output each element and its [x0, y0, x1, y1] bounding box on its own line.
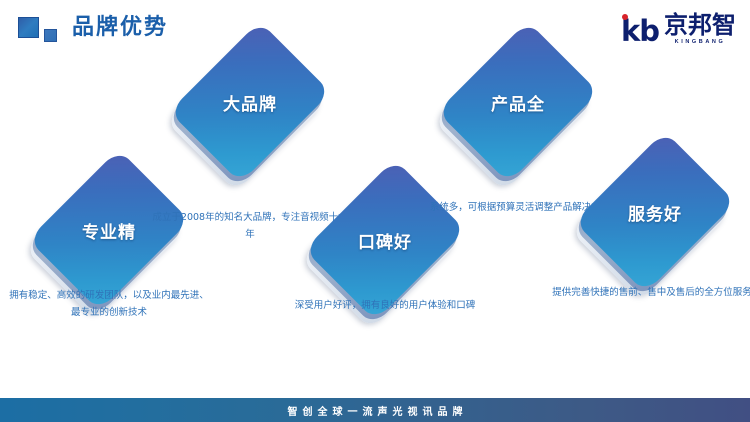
advantage-item-2[interactable]: 大品牌	[185, 22, 315, 182]
advantage-item-3[interactable]: 口碑好	[320, 160, 450, 320]
diamond-face	[185, 22, 315, 182]
footer-slogan: 智创全球一流声光视讯品牌	[283, 403, 468, 418]
diamond-face	[320, 160, 450, 320]
slide-footer: 智创全球一流声光视讯品牌	[0, 398, 750, 422]
diamond-shape-4: 产品全	[453, 22, 583, 182]
advantage-desc-1: 拥有稳定、高效的研发团队，以及业内最先进、最专业的创新技术	[9, 287, 209, 321]
advantage-desc-5: 提供完善快捷的售前、售中及售后的全方位服务	[552, 284, 750, 301]
diamond-shape-3: 口碑好	[320, 160, 450, 320]
diamond-shape-2: 大品牌	[185, 22, 315, 182]
diamond-face	[453, 22, 583, 182]
advantage-desc-3: 深受用户好评，拥有良好的用户体验和口碑	[285, 297, 485, 314]
advantage-item-5[interactable]: 服务好	[590, 132, 720, 292]
slide-root: 品牌优势 kb 京邦智 KINGBANG 专业精 拥有稳定、高效的研发团队，以及…	[0, 0, 750, 422]
advantage-items: 专业精 拥有稳定、高效的研发团队，以及业内最先进、最专业的创新技术 大品牌 成立…	[0, 0, 750, 390]
advantage-item-4[interactable]: 产品全	[453, 22, 583, 182]
diamond-shape-5: 服务好	[590, 132, 720, 292]
diamond-face	[590, 132, 720, 292]
